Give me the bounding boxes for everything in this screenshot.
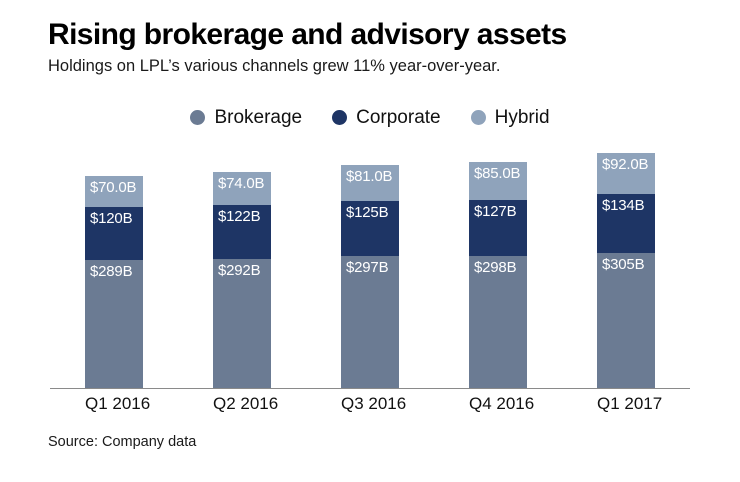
source-note: Source: Company data xyxy=(48,434,196,450)
x-axis-labels: Q1 2016Q2 2016Q3 2016Q4 2016Q1 2017 xyxy=(50,394,690,414)
legend-item-corporate[interactable]: Corporate xyxy=(332,108,441,127)
bar-segment-label: $134B xyxy=(602,198,644,215)
x-axis-line xyxy=(50,388,690,389)
bar-group: $70.0B$120B$289B$74.0B$122B$292B$81.0B$1… xyxy=(50,140,690,388)
bar-column[interactable]: $92.0B$134B$305B xyxy=(597,153,655,388)
bar-segment-brokerage[interactable]: $289B xyxy=(85,260,143,388)
bar-segment-label: $289B xyxy=(90,264,132,281)
circle-dot-icon xyxy=(190,110,205,125)
chart-title: Rising brokerage and advisory assets xyxy=(48,18,710,52)
bar-segment-corporate[interactable]: $125B xyxy=(341,201,399,256)
plot-area: $70.0B$120B$289B$74.0B$122B$292B$81.0B$1… xyxy=(50,140,690,388)
bar-segment-label: $70.0B xyxy=(90,180,136,197)
bar-segment-corporate[interactable]: $134B xyxy=(597,194,655,253)
bar-segment-label: $92.0B xyxy=(602,157,648,174)
chart-subtitle: Holdings on LPL’s various channels grew … xyxy=(48,57,710,77)
bar-segment-label: $305B xyxy=(602,257,644,274)
bar-segment-hybrid[interactable]: $74.0B xyxy=(213,172,271,205)
bar-column[interactable]: $85.0B$127B$298B xyxy=(469,162,527,388)
chart-container: Rising brokerage and advisory assets Hol… xyxy=(0,0,740,482)
bar-segment-hybrid[interactable]: $92.0B xyxy=(597,153,655,194)
bar-segment-brokerage[interactable]: $305B xyxy=(597,253,655,388)
bar-column[interactable]: $70.0B$120B$289B xyxy=(85,176,143,388)
x-axis-tick-label: Q1 2016 xyxy=(85,394,143,414)
bar-segment-corporate[interactable]: $127B xyxy=(469,200,527,256)
bar-segment-label: $120B xyxy=(90,211,132,228)
x-axis-tick-label: Q4 2016 xyxy=(469,394,527,414)
x-axis-tick-label: Q3 2016 xyxy=(341,394,399,414)
bar-segment-label: $298B xyxy=(474,260,516,277)
bar-segment-corporate[interactable]: $122B xyxy=(213,205,271,259)
legend-label-brokerage: Brokerage xyxy=(214,108,302,127)
bar-segment-brokerage[interactable]: $298B xyxy=(469,256,527,388)
bar-segment-label: $127B xyxy=(474,204,516,221)
bar-segment-hybrid[interactable]: $81.0B xyxy=(341,165,399,201)
bar-segment-label: $125B xyxy=(346,205,388,222)
bar-segment-corporate[interactable]: $120B xyxy=(85,207,143,260)
bar-segment-brokerage[interactable]: $292B xyxy=(213,259,271,388)
circle-dot-icon xyxy=(471,110,486,125)
bar-segment-label: $74.0B xyxy=(218,176,264,193)
chart-header: Rising brokerage and advisory assets Hol… xyxy=(48,18,710,76)
legend-label-corporate: Corporate xyxy=(356,108,441,127)
x-axis-tick-label: Q1 2017 xyxy=(597,394,655,414)
legend-item-hybrid[interactable]: Hybrid xyxy=(471,108,550,127)
x-axis-tick-label: Q2 2016 xyxy=(213,394,271,414)
bar-segment-label: $292B xyxy=(218,263,260,280)
bar-segment-brokerage[interactable]: $297B xyxy=(341,256,399,388)
bar-segment-label: $122B xyxy=(218,209,260,226)
bar-segment-label: $85.0B xyxy=(474,166,520,183)
legend-label-hybrid: Hybrid xyxy=(495,108,550,127)
legend-item-brokerage[interactable]: Brokerage xyxy=(190,108,302,127)
circle-dot-icon xyxy=(332,110,347,125)
bar-segment-hybrid[interactable]: $70.0B xyxy=(85,176,143,207)
bar-segment-label: $297B xyxy=(346,260,388,277)
bar-segment-label: $81.0B xyxy=(346,169,392,186)
bar-column[interactable]: $81.0B$125B$297B xyxy=(341,165,399,388)
chart-legend: Brokerage Corporate Hybrid xyxy=(0,108,740,127)
bar-segment-hybrid[interactable]: $85.0B xyxy=(469,162,527,200)
bar-column[interactable]: $74.0B$122B$292B xyxy=(213,172,271,388)
